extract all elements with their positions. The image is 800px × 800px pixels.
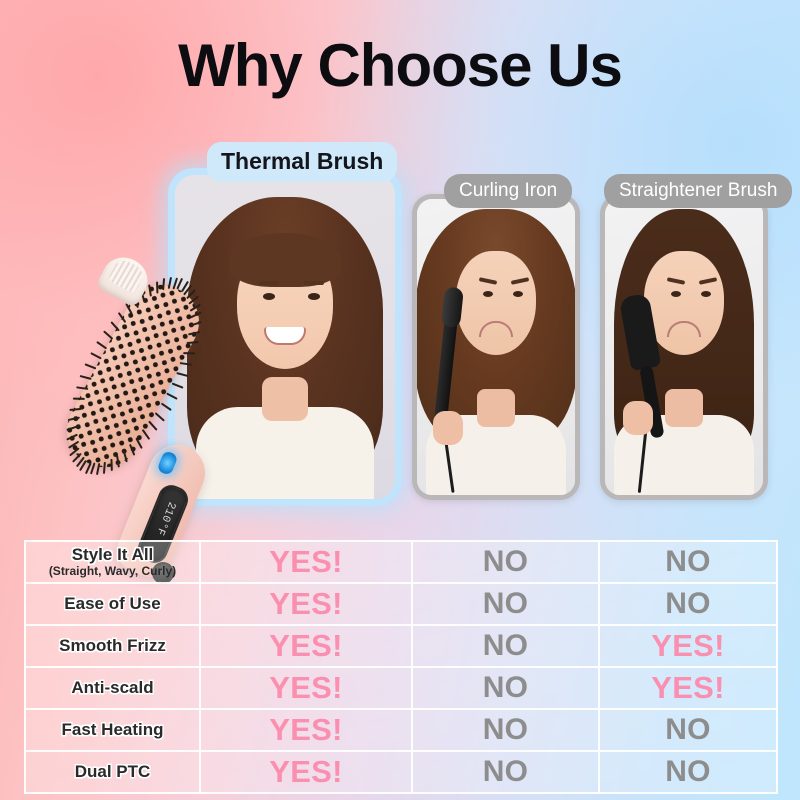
table-row: Dual PTCYES!NONO: [25, 751, 777, 793]
eye-left: [483, 291, 493, 297]
feature-label: Style It All(Straight, Wavy, Curly): [25, 541, 200, 583]
feature-label: Fast Heating: [25, 709, 200, 751]
verdict-cell-thermal-brush: YES!: [200, 583, 412, 625]
eye-right: [701, 291, 711, 297]
verdict-cell-thermal-brush: YES!: [200, 709, 412, 751]
eye-right: [513, 291, 523, 297]
table-row: Anti-scaldYES!NOYES!: [25, 667, 777, 709]
feature-label: Ease of Use: [25, 583, 200, 625]
product-photo-straightener-brush: [605, 199, 763, 495]
table-row: Fast HeatingYES!NONO: [25, 709, 777, 751]
promo-banner: Why Choose Us: [0, 0, 800, 800]
eyebrow-right: [304, 281, 324, 285]
eyebrow-left: [259, 281, 279, 285]
temperature-value: 210°F: [153, 500, 177, 537]
eye-left: [671, 291, 681, 297]
verdict-cell-straightener-brush: NO: [599, 583, 777, 625]
face-shape: [456, 251, 536, 355]
product-card-row: 210°F Thermal Brush: [0, 150, 800, 525]
thermal-brush-device: 210°F: [78, 256, 238, 556]
verdict-cell-straightener-brush: YES!: [599, 667, 777, 709]
feature-label: Smooth Frizz: [25, 625, 200, 667]
model-illustration-sad-straight: [605, 199, 763, 495]
product-label-curling-iron: Curling Iron: [444, 174, 572, 208]
verdict-cell-curling-iron: NO: [412, 541, 599, 583]
eye-right: [308, 293, 320, 300]
feature-label: Anti-scald: [25, 667, 200, 709]
verdict-cell-straightener-brush: NO: [599, 709, 777, 751]
table-row: Ease of UseYES!NONO: [25, 583, 777, 625]
eye-left: [263, 293, 275, 300]
verdict-cell-curling-iron: NO: [412, 667, 599, 709]
comparison-table: Style It All(Straight, Wavy, Curly)YES!N…: [24, 540, 778, 794]
hand-shape: [433, 411, 463, 445]
neck-shape: [262, 377, 308, 421]
verdict-cell-curling-iron: NO: [412, 625, 599, 667]
verdict-cell-straightener-brush: NO: [599, 541, 777, 583]
table-row: Style It All(Straight, Wavy, Curly)YES!N…: [25, 541, 777, 583]
neck-shape: [665, 389, 703, 427]
verdict-cell-straightener-brush: YES!: [599, 625, 777, 667]
verdict-cell-straightener-brush: NO: [599, 751, 777, 793]
page-title: Why Choose Us: [0, 34, 800, 97]
product-label-straightener-brush: Straightener Brush: [604, 174, 792, 208]
verdict-cell-curling-iron: NO: [412, 709, 599, 751]
product-label-thermal-brush: Thermal Brush: [207, 142, 397, 182]
product-card-straightener-brush[interactable]: [600, 194, 768, 500]
product-card-curling-iron[interactable]: [412, 194, 580, 500]
verdict-cell-thermal-brush: YES!: [200, 667, 412, 709]
fringe-shape: [229, 233, 341, 287]
model-illustration-sad-curly: [417, 199, 575, 495]
feature-label: Dual PTC: [25, 751, 200, 793]
verdict-cell-thermal-brush: YES!: [200, 625, 412, 667]
verdict-cell-thermal-brush: YES!: [200, 751, 412, 793]
hand-shape: [623, 401, 653, 435]
neck-shape: [477, 389, 515, 427]
feature-sublabel: (Straight, Wavy, Curly): [26, 565, 199, 578]
verdict-cell-curling-iron: NO: [412, 751, 599, 793]
verdict-cell-thermal-brush: YES!: [200, 541, 412, 583]
table-row: Smooth FrizzYES!NOYES!: [25, 625, 777, 667]
product-photo-curling-iron: [417, 199, 575, 495]
verdict-cell-curling-iron: NO: [412, 583, 599, 625]
